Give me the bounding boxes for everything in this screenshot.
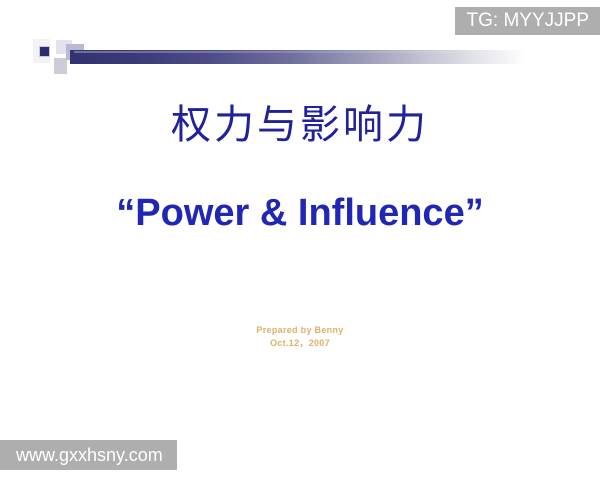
decoration-square-navy [39,46,50,57]
slide-credit-block: Prepared by Benny Oct.12，2007 [0,324,600,350]
website-watermark-badge: www.gxxhsny.com [0,440,177,470]
slide-title-chinese: 权力与影响力 [0,99,600,151]
credit-date: Oct.12，2007 [0,337,600,350]
telegram-handle-badge: TG: MYYJJPP [455,7,600,35]
decoration-square-grey [54,58,67,74]
credit-prepared-by: Prepared by Benny [0,324,600,337]
slide-title-english: “Power & Influence” [0,190,600,236]
presentation-slide: 权力与影响力 “Power & Influence” Prepared by B… [0,0,600,480]
decoration-gradient-bar-highlight [74,51,514,53]
